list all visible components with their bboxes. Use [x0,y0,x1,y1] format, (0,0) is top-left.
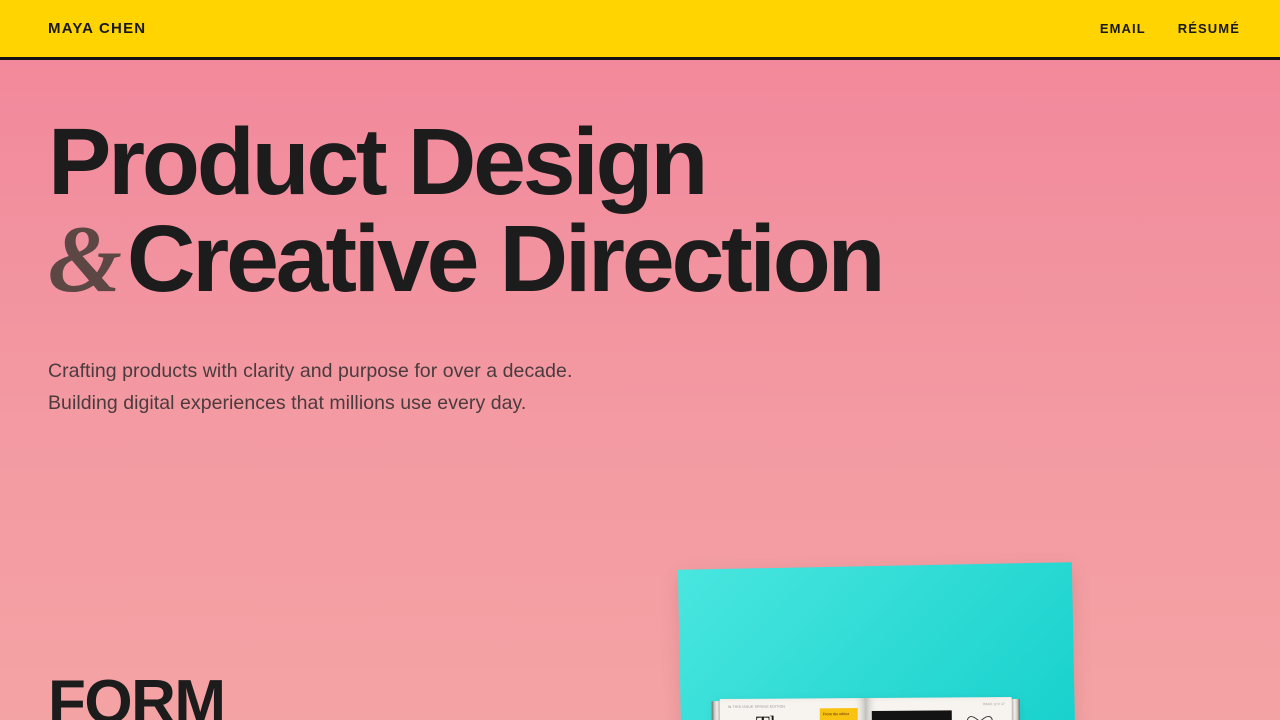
subtitle-line-2: Building digital experiences that millio… [48,392,526,414]
nav-link-resume[interactable]: RÉSUMÉ [1178,21,1240,36]
black-illustration-panel [872,710,953,720]
magazine-kicker: IN THIS ISSUE SPRING EDITION [728,705,785,710]
magazine-folio: ISSUE 12 P. 47 [983,702,1005,706]
subtitle-line-1: Crafting products with clarity and purpo… [48,360,572,382]
hero-photo-magazine: IN THIS ISSUE SPRING EDITION The ZIN Fro… [672,558,1092,720]
headline-line-1: Product Design [48,109,705,215]
hero-section: Product Design &Creative Direction Craft… [0,60,1280,720]
magazine-left-page: IN THIS ISSUE SPRING EDITION The ZIN Fro… [720,698,867,720]
primary-nav: EMAIL RÉSUMÉ [1100,21,1240,36]
nav-link-email[interactable]: EMAIL [1100,21,1146,36]
section-heading-form: FORM [48,672,225,720]
page-title: Product Design &Creative Direction [48,114,882,308]
teal-backdrop-sheet [678,562,1076,720]
open-magazine: IN THIS ISSUE SPRING EDITION The ZIN Fro… [714,697,1017,720]
brand-wordmark[interactable]: MAYA CHEN [48,20,146,37]
ampersand-glyph: & [48,206,127,312]
headline-line-2: Creative Direction [127,206,882,312]
hero-subtitle: Crafting products with clarity and purpo… [48,355,572,419]
sidebar-title: From the editor [823,712,855,717]
magazine-right-page: ISSUE 12 P. 47 [866,697,1013,720]
portfolio-landing-page: MAYA CHEN EMAIL RÉSUMÉ Product Design &C… [0,0,1280,720]
magazine-the-word: The [756,713,792,720]
magazine-yellow-sidebar: From the editor [820,708,859,720]
atom-diagram-icon [956,713,1004,720]
site-header: MAYA CHEN EMAIL RÉSUMÉ [0,0,1280,60]
